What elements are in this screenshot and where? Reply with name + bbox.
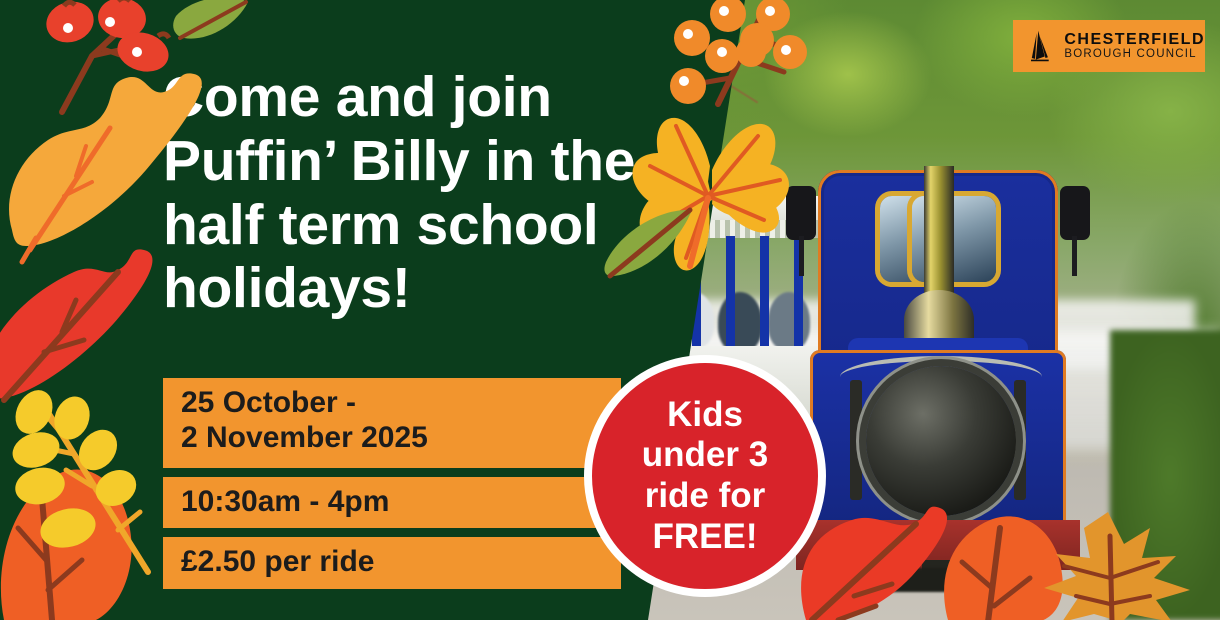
event-dates-bar: 25 October - 2 November 2025 [163, 378, 621, 468]
badge-line-4: FREE! [653, 517, 758, 558]
free-kids-badge: Kids under 3 ride for FREE! [584, 355, 826, 597]
badge-line-1: Kids [667, 395, 743, 436]
page-title: Come and join Puffin’ Billy in the half … [163, 66, 683, 321]
event-details: 25 October - 2 November 2025 10:30am - 4… [163, 378, 621, 598]
logo-title: CHESTERFIELD [1064, 32, 1205, 49]
smokebox-hinge-left [850, 380, 862, 500]
crooked-spire-icon [1027, 26, 1054, 66]
smokebox-door [866, 366, 1016, 516]
council-logo[interactable]: CHESTERFIELD BOROUGH COUNCIL [1013, 20, 1205, 72]
buffer-right [988, 532, 1044, 562]
mirror-left [786, 186, 816, 240]
event-times-bar: 10:30am - 4pm [163, 477, 621, 529]
underframe [828, 568, 1048, 592]
locomotive [788, 170, 1088, 570]
event-poster: Come and join Puffin’ Billy in the half … [0, 0, 1220, 620]
badge-line-2: under 3 [642, 435, 768, 476]
logo-subtitle: BOROUGH COUNCIL [1064, 48, 1205, 60]
mirror-stem-right [1072, 236, 1077, 276]
buffer-left [832, 532, 888, 562]
mirror-right [1060, 186, 1090, 240]
hedge [1110, 330, 1220, 620]
badge-line-3: ride for [645, 476, 766, 517]
mirror-stem-left [799, 236, 804, 276]
event-price-bar: £2.50 per ride [163, 537, 621, 589]
